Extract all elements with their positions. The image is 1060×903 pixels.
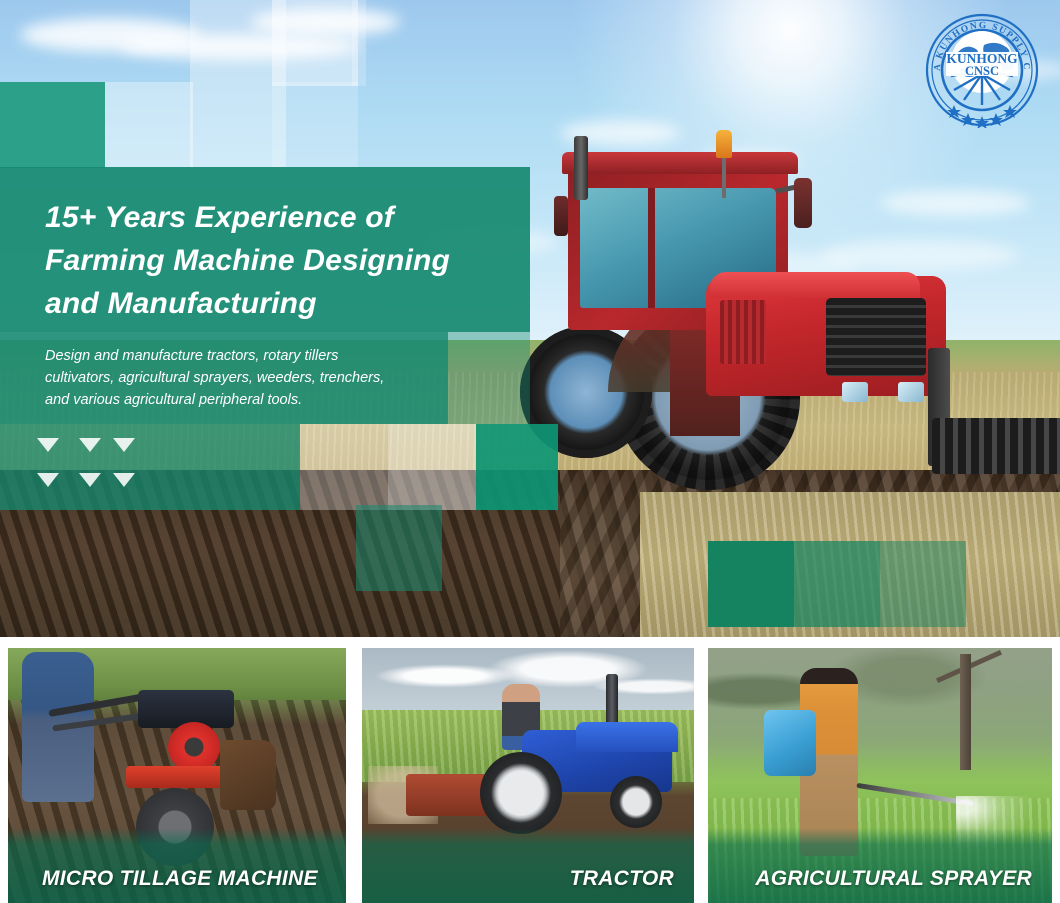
chevron-down-triangle-icon [37, 438, 59, 452]
page-title: 15+ Years Experience of Farming Machine … [45, 196, 525, 325]
product-banner: 15+ Years Experience of Farming Machine … [0, 0, 1060, 903]
logo-center-line-2: CNSC [965, 64, 999, 78]
red-tractor-illustration [520, 130, 1060, 510]
chevron-down-triangle-icon [37, 473, 59, 487]
tractor-grille [826, 298, 926, 376]
accent-strip [388, 424, 476, 510]
card-label-bar [708, 828, 1052, 903]
accent-strip [300, 424, 388, 510]
tractor-mirror-right [794, 178, 812, 228]
tractor-front-implement [932, 418, 1060, 474]
accent-tile-deep [794, 541, 880, 627]
accent-tile [272, 0, 358, 86]
headline-line: Farming Machine Designing [45, 239, 525, 282]
chevron-down-triangle-icon [113, 473, 135, 487]
accent-tile [105, 82, 193, 168]
tractor-cab-divider [648, 188, 655, 308]
card-label-bar [362, 828, 694, 903]
headline-line: and Manufacturing [45, 282, 525, 325]
product-label: MICRO TILLAGE MACHINE [42, 867, 318, 891]
product-card-row: MICRO TILLAGE MACHINE TRACTOR [0, 648, 1060, 903]
product-card-tractor[interactable]: TRACTOR [362, 648, 694, 903]
tractor-beacon-pole [722, 156, 726, 198]
chevron-down-triangle-icon [79, 473, 101, 487]
rotary-tiller-attachment [406, 774, 488, 816]
product-card-micro-tillage-machine[interactable]: MICRO TILLAGE MACHINE [8, 648, 346, 903]
accent-tile-solid [0, 82, 105, 168]
tractor-roof [562, 152, 798, 174]
hero-description: Design and manufacture tractors, rotary … [45, 345, 475, 411]
description-line: and various agricultural peripheral tool… [45, 389, 475, 411]
tree-trunk [960, 654, 971, 770]
accent-tile [352, 0, 366, 86]
accent-strip [0, 424, 300, 510]
chevron-down-triangle-icon [79, 438, 101, 452]
accent-tile [272, 82, 358, 168]
tractor-hood [576, 722, 678, 752]
accent-strip [476, 424, 558, 510]
tractor-rear-wheel [480, 752, 562, 834]
tiller-blades [220, 740, 276, 810]
background-trees [708, 648, 1052, 756]
tractor-mirror-left [554, 196, 568, 236]
product-label: TRACTOR [570, 867, 674, 891]
tiller-engine [168, 722, 220, 772]
hero-section: 15+ Years Experience of Farming Machine … [0, 0, 1060, 637]
description-line: Design and manufacture tractors, rotary … [45, 345, 475, 367]
accent-tile-deep [708, 541, 794, 627]
backpack-sprayer-tank [764, 710, 816, 776]
accent-tile [356, 505, 442, 591]
tractor-front-wheel [610, 776, 662, 828]
tractor-exhaust-pipe [574, 136, 588, 200]
tractor-hood-top [710, 272, 920, 298]
tractor-headlight-left [842, 382, 868, 402]
company-logo: KUNHONG CNSC CHINA KUNHONG SUPPLY CHAIN [924, 12, 1040, 128]
tractor-side-vent [720, 300, 766, 364]
product-label: AGRICULTURAL SPRAYER [755, 867, 1032, 891]
product-card-agricultural-sprayer[interactable]: AGRICULTURAL SPRAYER [708, 648, 1052, 903]
accent-tile-deep [880, 541, 966, 627]
card-label-bar [8, 828, 346, 903]
chevron-down-triangle-icon [113, 438, 135, 452]
description-line: cultivators, agricultural sprayers, weed… [45, 367, 475, 389]
headline-line: 15+ Years Experience of [45, 196, 525, 239]
tractor-headlight-right [898, 382, 924, 402]
tractor-beacon-light [716, 130, 732, 158]
